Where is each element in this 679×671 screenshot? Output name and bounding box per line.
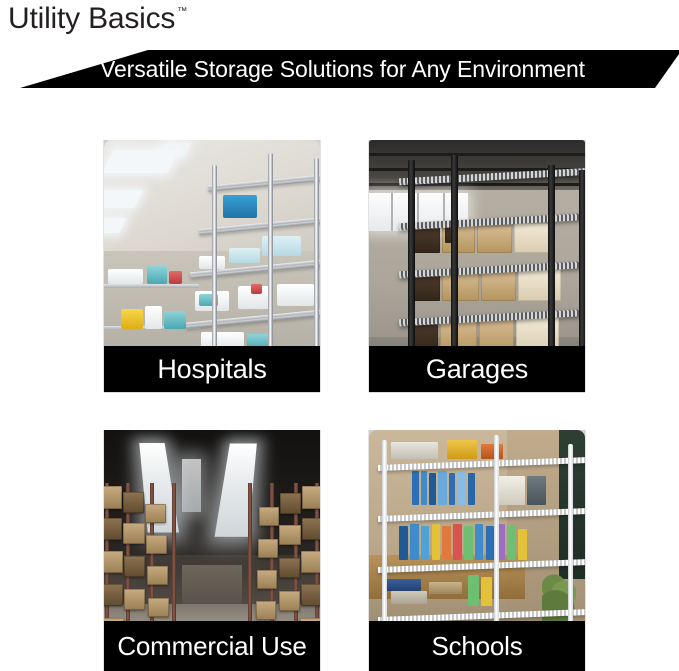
book: [421, 526, 430, 560]
supply-box: [164, 311, 186, 329]
shelf-post: [408, 160, 415, 377]
book: [429, 473, 435, 504]
roof-beam: [369, 153, 585, 156]
category-panel-hospitals[interactable]: Hospitals: [104, 140, 320, 392]
shelf-item: [527, 476, 546, 505]
carton: [477, 226, 512, 254]
category-panel-commercial-use[interactable]: Commercial Use: [104, 430, 320, 671]
category-panel-schools[interactable]: Schools: [369, 430, 585, 671]
book: [421, 471, 427, 505]
panel-caption-garages: Garages: [369, 346, 585, 392]
book: [453, 524, 462, 560]
category-panel-grid: Hospitals: [0, 128, 679, 671]
book: [432, 524, 441, 560]
brand-name: Utility Basics: [8, 2, 175, 36]
wall-shelf: [104, 284, 199, 288]
carton: [481, 271, 516, 301]
supply-box: [169, 271, 182, 284]
book: [410, 524, 419, 560]
supply-box: [121, 309, 143, 329]
supply-box: [147, 266, 166, 284]
blue-bin: [223, 195, 258, 218]
book-stack: [391, 591, 428, 603]
book: [458, 471, 467, 505]
trademark-symbol: ™: [177, 5, 187, 19]
panel-caption-commercial-use: Commercial Use: [104, 621, 320, 671]
shelf-post: [451, 155, 458, 377]
book: [468, 575, 479, 606]
book: [507, 526, 516, 560]
tagline-text: Versatile Storage Solutions for Any Envi…: [0, 50, 679, 88]
panel-caption-schools: Schools: [369, 621, 585, 671]
book: [475, 524, 484, 560]
shelf-item: [481, 444, 503, 458]
supply-box: [277, 284, 314, 307]
panel-caption-hospitals: Hospitals: [104, 346, 320, 392]
supply-box: [145, 306, 162, 329]
supply-box: [108, 269, 143, 284]
tagline-banner: Versatile Storage Solutions for Any Envi…: [0, 50, 679, 88]
category-panel-garages[interactable]: Garages: [369, 140, 585, 392]
book: [518, 529, 527, 560]
book: [412, 471, 418, 505]
book-stack: [429, 582, 461, 594]
book: [481, 577, 492, 606]
supply-box: [229, 248, 259, 263]
book: [399, 526, 408, 560]
shelf-item: [499, 476, 525, 505]
shelf-item: [391, 442, 439, 459]
book: [438, 471, 447, 505]
brand-logo: Utility Basics ™: [8, 2, 187, 38]
book: [464, 526, 473, 560]
supply-box: [251, 284, 262, 294]
shelf-item: [447, 440, 477, 459]
back-wall: [182, 565, 243, 604]
book: [449, 473, 455, 504]
book: [442, 526, 451, 560]
book: [468, 473, 474, 504]
book: [486, 526, 495, 560]
book-stack: [386, 579, 421, 591]
